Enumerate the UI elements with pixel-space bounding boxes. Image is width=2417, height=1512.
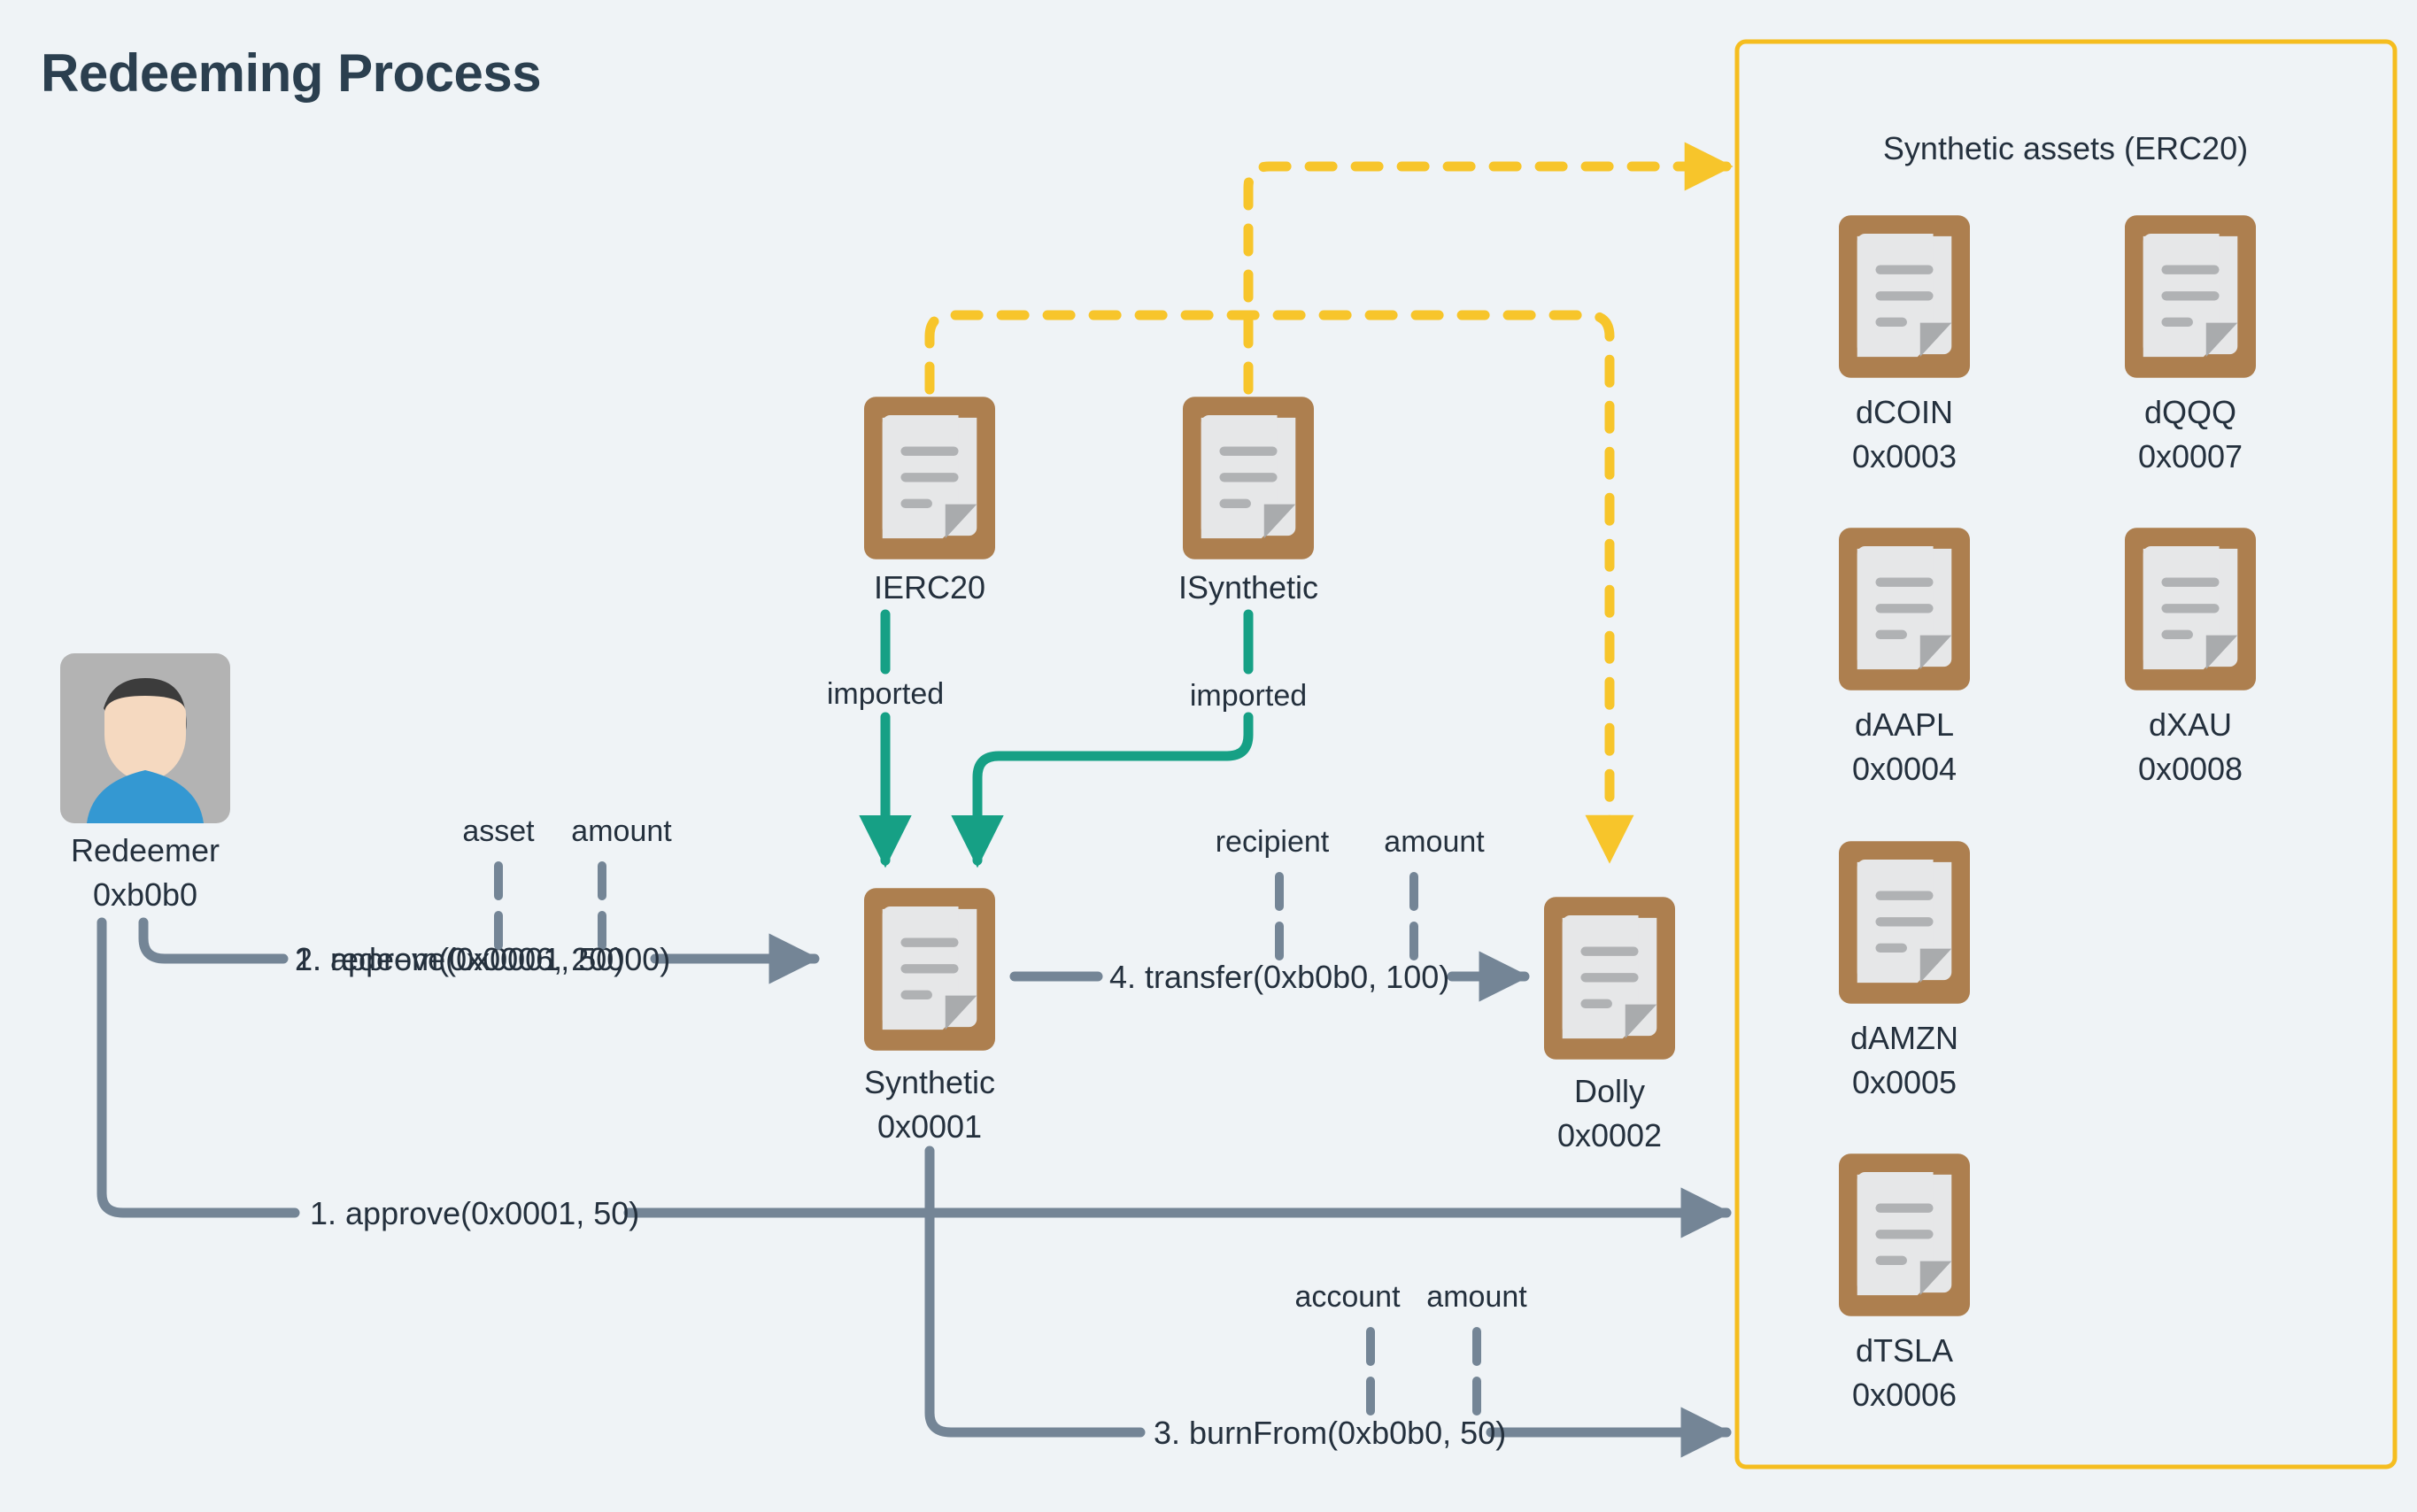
document-icon xyxy=(1544,897,1675,1060)
asset-name: dAMZN xyxy=(1850,1020,1958,1056)
params-redeem: asset amount xyxy=(462,814,672,945)
panel-title: Synthetic assets (ERC20) xyxy=(1883,130,2248,166)
imported-label: imported xyxy=(1190,679,1307,713)
node-synthetic[interactable]: Synthetic 0x0001 xyxy=(864,888,995,1145)
isynthetic-to-panel-link xyxy=(1248,166,1726,390)
asset-name: dQQQ xyxy=(2144,394,2236,430)
document-icon xyxy=(1839,841,1970,1004)
call-label-approve-main: 1. approve(0x0001, 50) xyxy=(310,1195,639,1231)
params-transfer: recipient amount xyxy=(1216,825,1486,956)
param-label: account xyxy=(1294,1280,1401,1314)
asset-address: 0x0006 xyxy=(1852,1377,1957,1413)
asset-item[interactable]: dAAPL 0x0004 xyxy=(1839,528,1970,787)
actor-redeemer[interactable]: Redeemer 0xb0b0 xyxy=(60,653,230,913)
redeem-line-left xyxy=(143,922,283,959)
node-label: Dolly xyxy=(1574,1073,1645,1109)
document-icon xyxy=(1839,1153,1970,1316)
document-icon xyxy=(1183,397,1314,559)
asset-item[interactable]: dAMZN 0x0005 xyxy=(1839,841,1970,1100)
params-burnfrom: account amount xyxy=(1294,1280,1527,1411)
imported-links xyxy=(885,614,1248,860)
asset-item[interactable]: dCOIN 0x0003 xyxy=(1839,215,1970,474)
document-icon xyxy=(1839,215,1970,378)
node-label: Synthetic xyxy=(864,1064,995,1100)
redeeming-process-diagram: Synthetic assets (ERC20) dCOIN 0x0003 dQ… xyxy=(0,0,2417,1512)
call-label-redeem: 2. redeem(0x0006, 20000) xyxy=(295,941,670,977)
document-icon xyxy=(1839,528,1970,690)
asset-address: 0x0003 xyxy=(1852,438,1957,474)
imported-label: imported xyxy=(827,677,944,711)
isynthetic-imported-arrow xyxy=(977,717,1248,860)
node-dolly[interactable]: Dolly 0x0002 xyxy=(1544,897,1675,1153)
document-icon xyxy=(2125,215,2256,378)
param-label: amount xyxy=(1426,1280,1527,1314)
node-isynthetic[interactable]: ISynthetic xyxy=(1178,397,1318,606)
param-label: amount xyxy=(1384,825,1485,859)
asset-item[interactable]: dTSLA 0x0006 xyxy=(1839,1153,1970,1413)
asset-item[interactable]: dQQQ 0x0007 xyxy=(2125,215,2256,474)
node-label: IERC20 xyxy=(874,569,985,606)
node-label: ISynthetic xyxy=(1178,569,1318,606)
call-label-burnfrom: 3. burnFrom(0xb0b0, 50) xyxy=(1154,1415,1506,1451)
node-address: 0x0001 xyxy=(877,1108,982,1145)
param-label: amount xyxy=(571,814,672,848)
asset-item[interactable]: dXAU 0x0008 xyxy=(2125,528,2256,787)
approve-line-left xyxy=(102,922,295,1213)
user-avatar-icon xyxy=(60,653,230,841)
document-icon xyxy=(864,397,995,559)
panel-border xyxy=(1737,42,2395,1467)
document-icon xyxy=(864,888,995,1051)
synthetic-assets-panel: Synthetic assets (ERC20) dCOIN 0x0003 dQ… xyxy=(1737,42,2395,1467)
node-address: 0x0002 xyxy=(1557,1117,1662,1153)
asset-address: 0x0007 xyxy=(2138,438,2243,474)
actor-address: 0xb0b0 xyxy=(93,876,197,913)
asset-name: dXAU xyxy=(2149,706,2232,743)
asset-address: 0x0005 xyxy=(1852,1064,1957,1100)
actor-name: Redeemer xyxy=(71,832,220,868)
burnfrom-line-left xyxy=(930,1151,1140,1432)
param-label: asset xyxy=(462,814,535,848)
asset-name: dTSLA xyxy=(1856,1332,1953,1369)
param-label: recipient xyxy=(1216,825,1330,859)
call-label-transfer: 4. transfer(0xb0b0, 100) xyxy=(1109,959,1449,995)
asset-address: 0x0008 xyxy=(2138,751,2243,787)
document-icon xyxy=(2125,528,2256,690)
asset-name: dCOIN xyxy=(1856,394,1953,430)
asset-name: dAAPL xyxy=(1855,706,1954,743)
asset-address: 0x0004 xyxy=(1852,751,1957,787)
node-ierc20[interactable]: IERC20 xyxy=(864,397,995,606)
